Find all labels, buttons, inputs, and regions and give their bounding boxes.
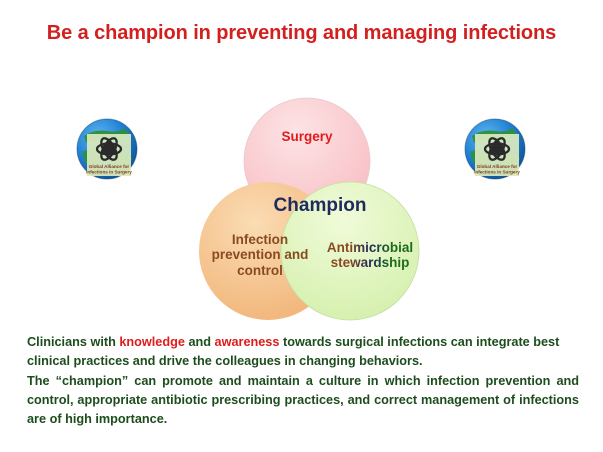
venn-label-ipc-line3: control: [237, 263, 283, 278]
venn-label-surgery: Surgery: [178, 129, 436, 144]
paragraph-1: Clinicians with knowledge and awareness …: [27, 333, 579, 372]
paragraph-1-part1: Clinicians with: [27, 335, 119, 349]
venn-label-ams-line1: Antimicrobial: [327, 240, 413, 255]
body-text-block: Clinicians with knowledge and awareness …: [27, 333, 579, 429]
paragraph-2: The “champion” can promote and maintain …: [27, 372, 579, 430]
venn-label-ams-line2: stewardship: [331, 255, 410, 270]
page-title: Be a champion in preventing and managing…: [0, 22, 603, 45]
venn-diagram: Surgery Champion Infection prevention an…: [178, 92, 436, 324]
logo-caption-line1: Global Alliance for: [89, 164, 130, 169]
venn-label-ipc-line2: prevention and: [212, 247, 309, 262]
globe-icon: Global Alliance for Infections in Surger…: [462, 116, 528, 182]
paragraph-1-part2: and: [185, 335, 215, 349]
paragraph-1-highlight-knowledge: knowledge: [119, 335, 185, 349]
venn-label-ams: Antimicrobial stewardship: [302, 240, 438, 271]
logo-caption-line2: Infections in Surgery: [474, 170, 520, 175]
logo-global-alliance-left: Global Alliance for Infections in Surger…: [74, 116, 140, 182]
logo-global-alliance-right: Global Alliance for Infections in Surger…: [462, 116, 528, 182]
logo-caption-line1: Global Alliance for: [477, 164, 518, 169]
paragraph-1-highlight-awareness: awareness: [215, 335, 280, 349]
globe-icon: Global Alliance for Infections in Surger…: [74, 116, 140, 182]
venn-label-champion: Champion: [240, 195, 400, 217]
logo-caption-line2: Infections in Surgery: [86, 170, 132, 175]
venn-label-ipc-line1: Infection: [232, 232, 288, 247]
